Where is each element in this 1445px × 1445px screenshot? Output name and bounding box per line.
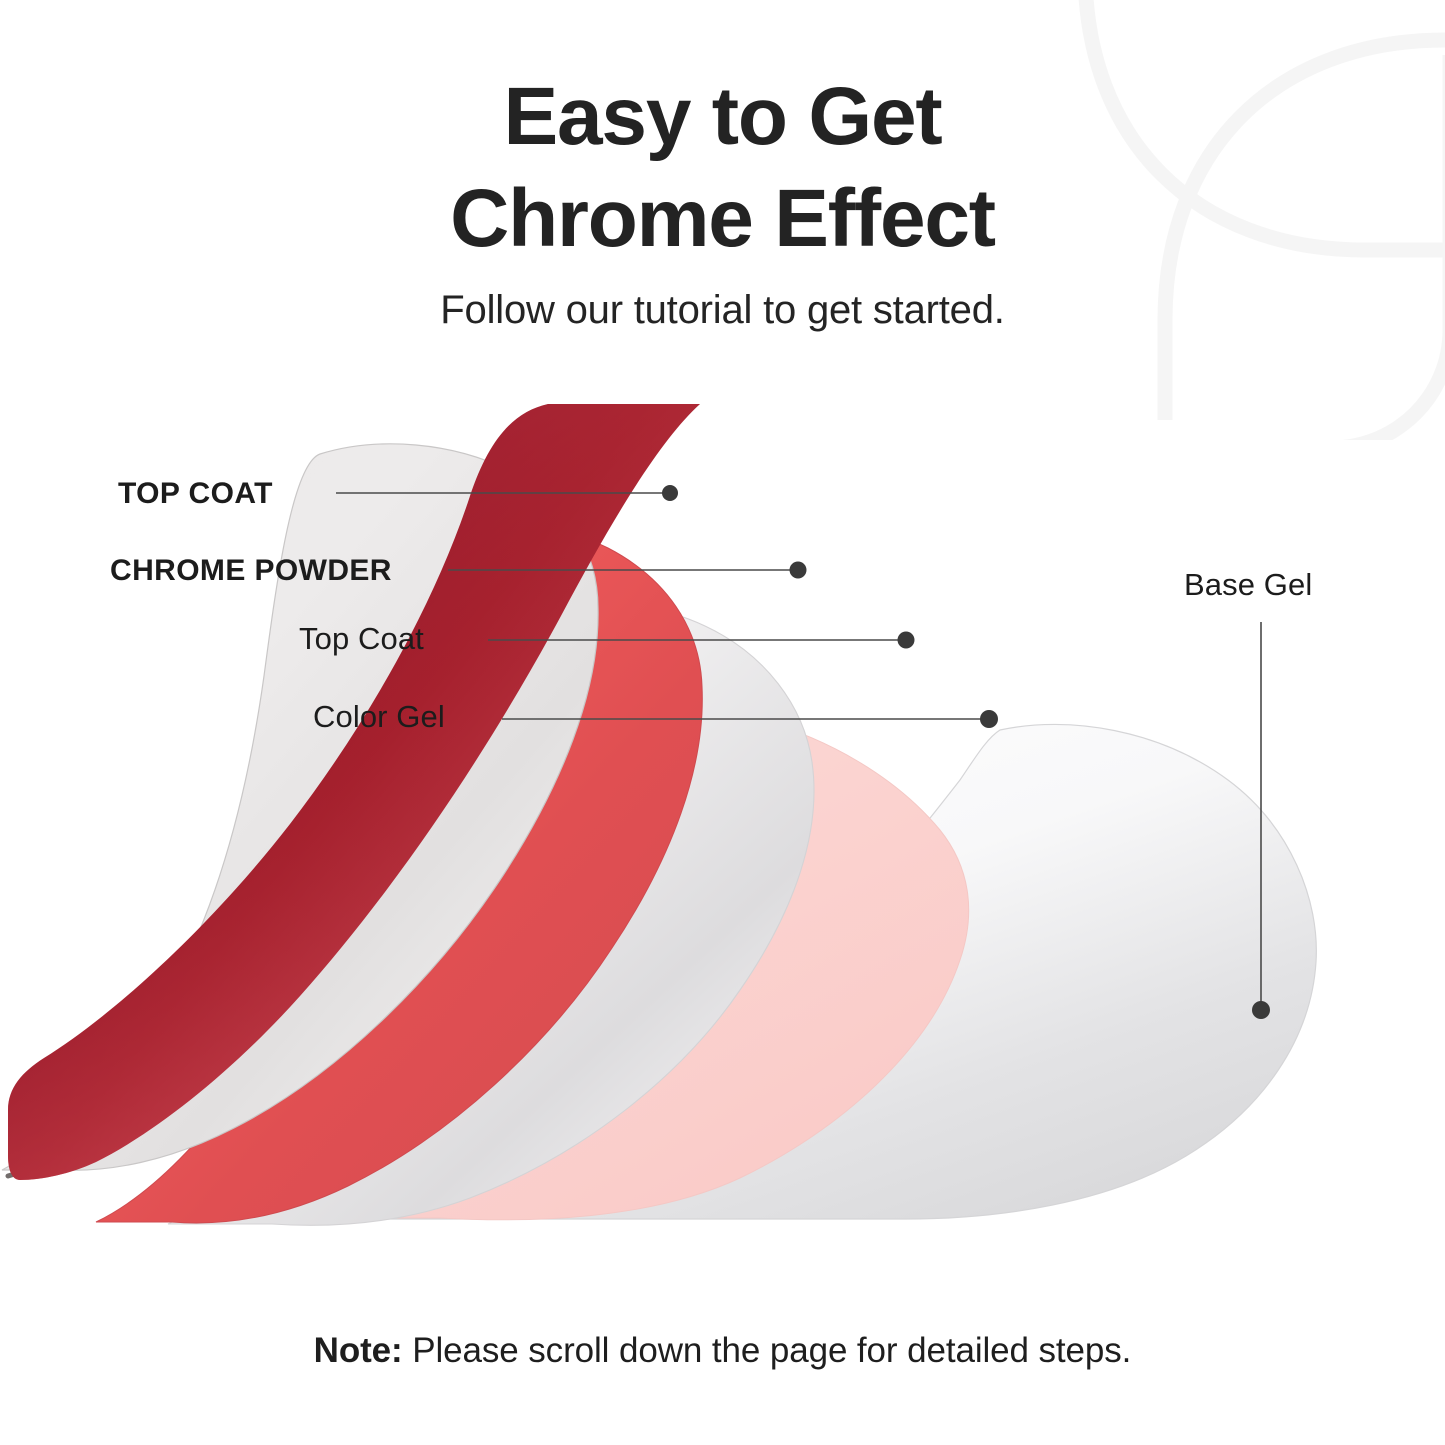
- nail-layer-stack-diagram: [0, 400, 1445, 1280]
- note-body: Please scroll down the page for detailed…: [403, 1331, 1132, 1370]
- page-subtitle: Follow our tutorial to get started.: [0, 286, 1445, 334]
- callout-label-top-coat-inner: Top Coat: [299, 621, 424, 657]
- callout-label-chrome-powder: CHROME POWDER: [110, 554, 392, 588]
- callout-label-base-gel: Base Gel: [1184, 567, 1312, 603]
- title-line-1: Easy to Get: [0, 66, 1445, 168]
- note-label: Note:: [314, 1331, 403, 1370]
- page-root: Easy to Get Chrome Effect Follow our tut…: [0, 0, 1445, 1445]
- callout-label-top-coat-outer: TOP COAT: [118, 477, 273, 511]
- title-line-2: Chrome Effect: [0, 168, 1445, 270]
- callout-label-color-gel: Color Gel: [313, 699, 445, 735]
- bottom-note: Note: Please scroll down the page for de…: [0, 1331, 1445, 1371]
- page-heading: Easy to Get Chrome Effect Follow our tut…: [0, 66, 1445, 334]
